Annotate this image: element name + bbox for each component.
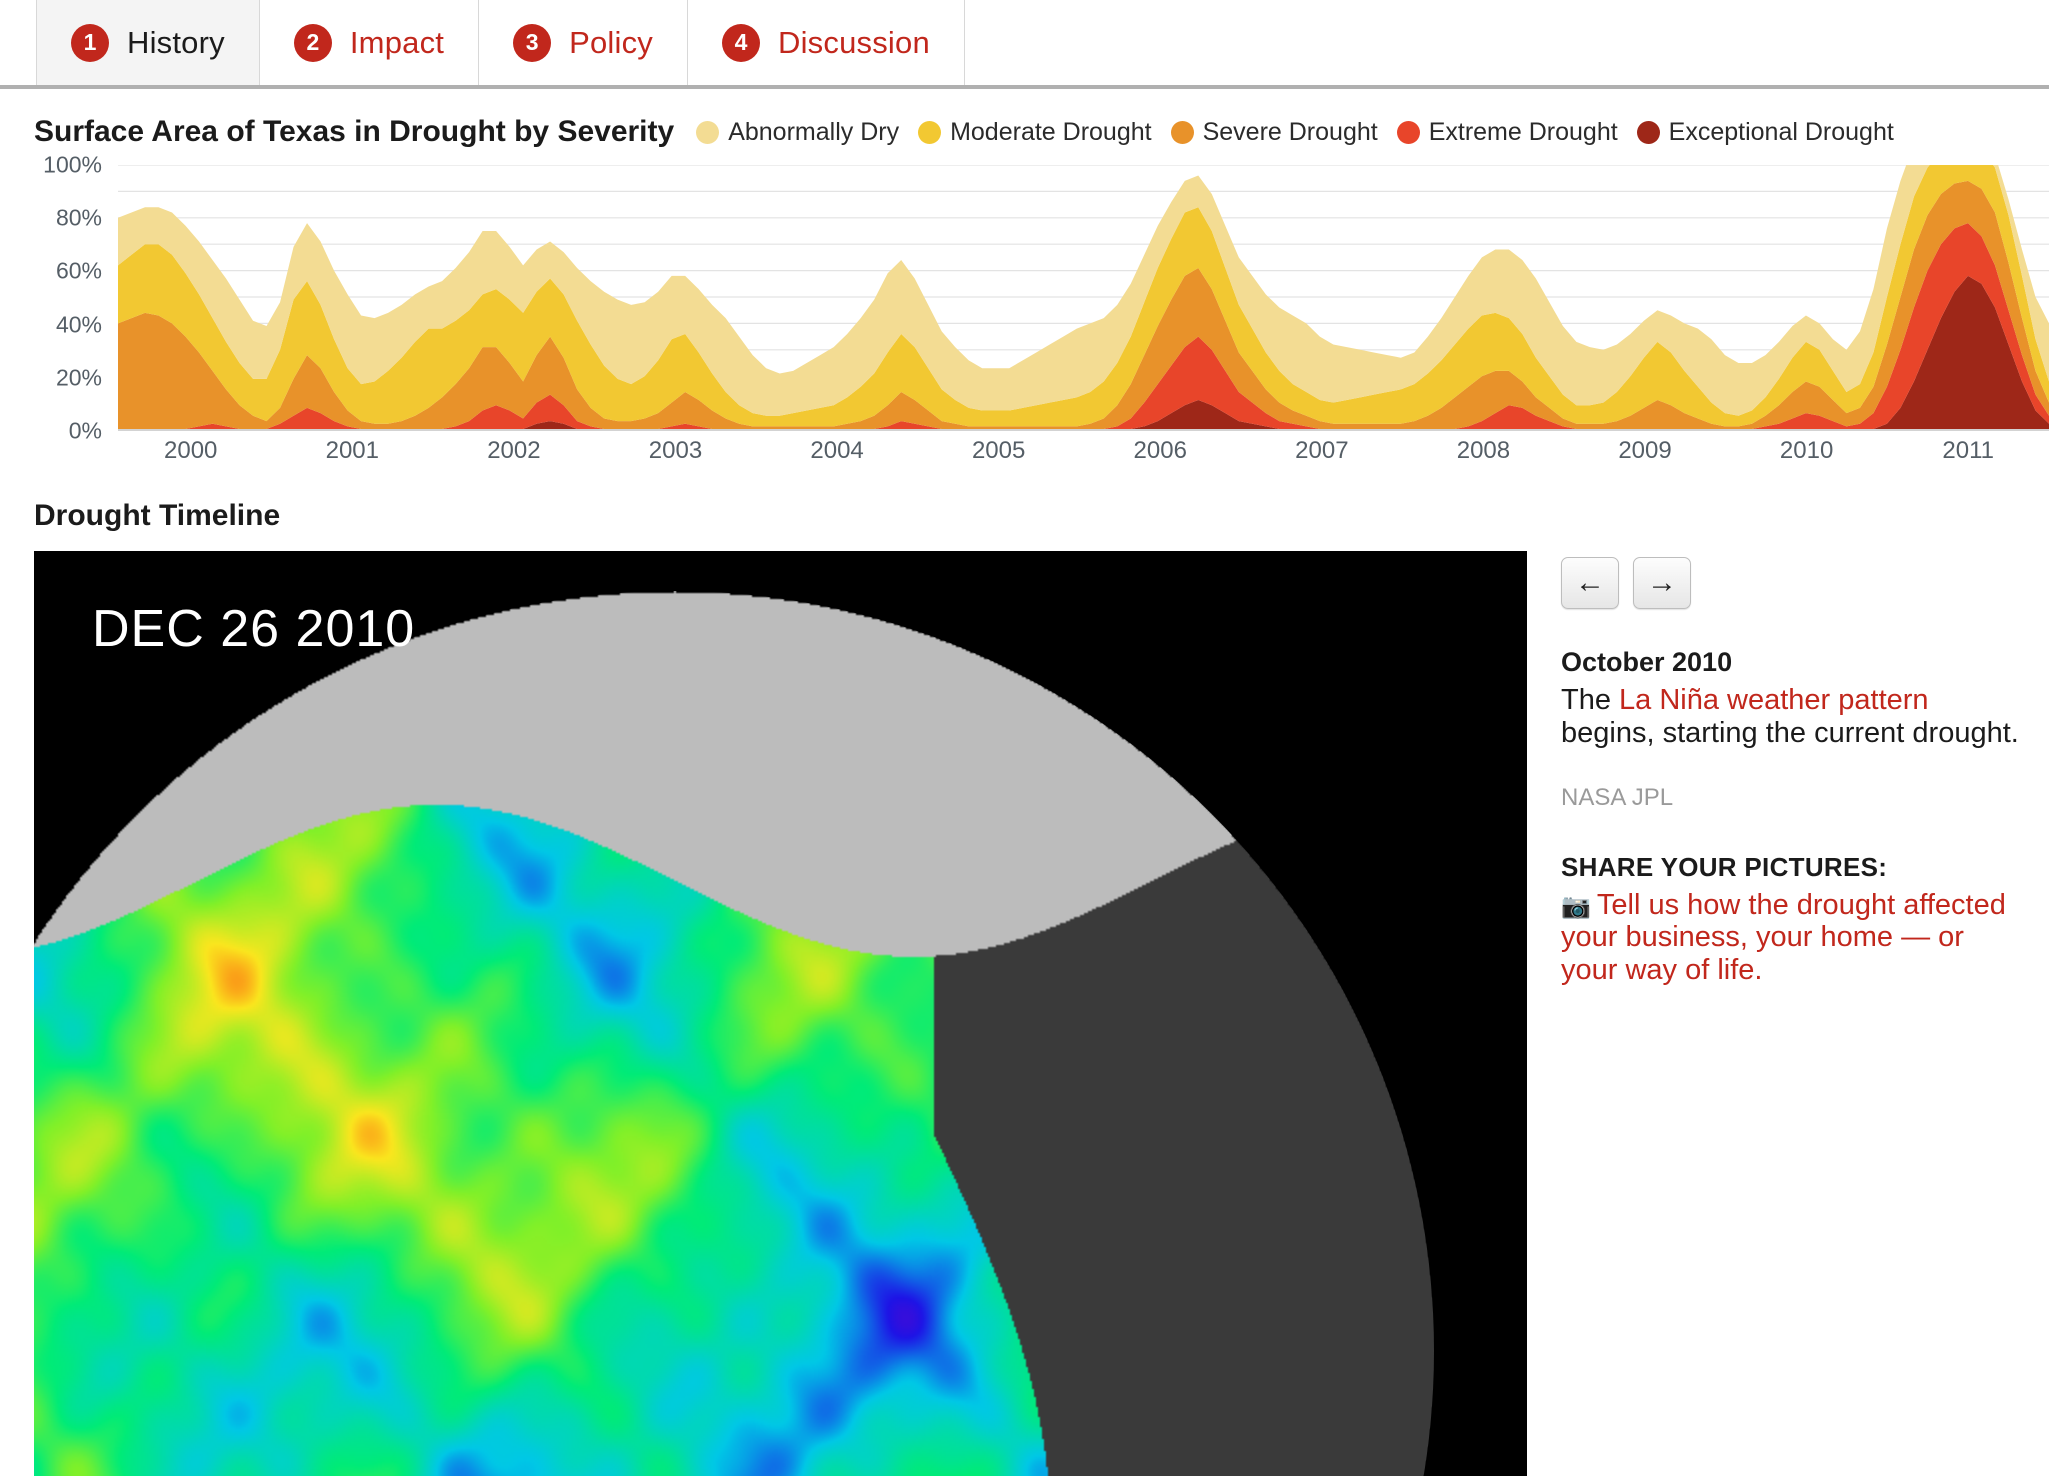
entry-text: The La Niña weather pattern begins, star… — [1561, 684, 2021, 750]
share-prompt-text: Tell us how the drought affected your bu… — [1561, 889, 2006, 987]
drought-chart-section: Surface Area of Texas in Drought by Seve… — [0, 89, 2049, 485]
y-axis: 0%20%40%60%80%100% — [0, 165, 112, 431]
tab-history[interactable]: 1History — [36, 0, 260, 85]
tab-impact[interactable]: 2Impact — [260, 0, 479, 85]
legend-label: Abnormally Dry — [728, 118, 899, 147]
y-axis-tick: 40% — [56, 311, 102, 338]
tab-label: Policy — [569, 25, 653, 61]
legend-item[interactable]: Extreme Drought — [1397, 118, 1627, 147]
legend-label: Extreme Drought — [1429, 118, 1618, 147]
x-axis-tick: 2000 — [164, 437, 217, 465]
x-axis-tick: 2011 — [1942, 437, 1994, 465]
legend-color-dot — [918, 121, 941, 144]
image-date-overlay: DEC 26 2010 — [92, 599, 415, 659]
x-axis-tick: 2007 — [1295, 437, 1348, 465]
x-axis-tick: 2002 — [487, 437, 540, 465]
legend-color-dot — [1171, 121, 1194, 144]
y-axis-tick: 60% — [56, 258, 102, 285]
next-button[interactable]: → — [1633, 557, 1691, 609]
share-prompt[interactable]: 📷Tell us how the drought affected your b… — [1561, 889, 2021, 987]
tab-number-badge: 3 — [513, 24, 551, 62]
tab-policy[interactable]: 3Policy — [479, 0, 688, 85]
timeline-nav: ← → — [1561, 557, 2021, 609]
timeline-body: DEC 26 2010 ← → October 2010 The La Niña… — [0, 551, 2049, 1476]
legend-color-dot — [1637, 121, 1660, 144]
x-axis-tick: 2010 — [1780, 437, 1833, 465]
legend-color-dot — [1397, 121, 1420, 144]
x-axis-tick: 2009 — [1618, 437, 1671, 465]
legend-item[interactable]: Exceptional Drought — [1637, 118, 1903, 147]
legend-item[interactable]: Severe Drought — [1171, 118, 1387, 147]
camera-icon: 📷 — [1561, 893, 1591, 920]
entry-text-highlight[interactable]: La Niña weather pattern — [1619, 684, 1929, 716]
entry-date: October 2010 — [1561, 647, 2021, 678]
tab-number-badge: 1 — [71, 24, 109, 62]
tab-number-badge: 2 — [294, 24, 332, 62]
sea-surface-temperature-image[interactable]: DEC 26 2010 — [34, 551, 1527, 1476]
tab-label: Discussion — [778, 25, 930, 61]
x-axis-tick: 2008 — [1457, 437, 1510, 465]
prev-button[interactable]: ← — [1561, 557, 1619, 609]
timeline-heading: Drought Timeline — [0, 499, 2049, 533]
entry-source: NASA JPL — [1561, 784, 2021, 812]
x-axis-tick: 2006 — [1134, 437, 1187, 465]
y-axis-tick: 0% — [69, 418, 102, 445]
legend-item[interactable]: Moderate Drought — [918, 118, 1161, 147]
tab-discussion[interactable]: 4Discussion — [688, 0, 965, 85]
y-axis-tick: 20% — [56, 364, 102, 391]
legend-label: Exceptional Drought — [1669, 118, 1894, 147]
y-axis-tick: 80% — [56, 205, 102, 232]
chart-plot-area: 0%20%40%60%80%100% 200020012002200320042… — [0, 165, 2049, 485]
x-axis-tick: 2003 — [649, 437, 702, 465]
x-axis-tick: 2001 — [326, 437, 379, 465]
stacked-area-plot — [118, 165, 2049, 431]
legend-color-dot — [696, 121, 719, 144]
y-axis-tick: 100% — [43, 152, 102, 179]
timeline-panel: ← → October 2010 The La Niña weather pat… — [1561, 551, 2021, 1476]
sst-canvas — [34, 591, 1434, 1476]
plot-svg — [118, 165, 2049, 429]
entry-text-before: The — [1561, 684, 1619, 716]
entry-text-after: begins, starting the current drought. — [1561, 717, 2019, 749]
legend-label: Severe Drought — [1203, 118, 1378, 147]
globe-sphere — [34, 591, 1434, 1476]
legend-item[interactable]: Abnormally Dry — [696, 118, 908, 147]
x-axis-tick: 2005 — [972, 437, 1025, 465]
legend-label: Moderate Drought — [950, 118, 1152, 147]
tab-label: History — [127, 25, 225, 61]
share-heading: SHARE YOUR PICTURES: — [1561, 852, 2021, 883]
tab-bar: 1History2Impact3Policy4Discussion — [0, 0, 2049, 89]
tab-number-badge: 4 — [722, 24, 760, 62]
chart-header: Surface Area of Texas in Drought by Seve… — [0, 111, 2049, 153]
x-axis: 2000200120022003200420052006200720082009… — [118, 437, 2049, 477]
x-axis-tick: 2004 — [810, 437, 863, 465]
chart-legend: Abnormally DryModerate DroughtSevere Dro… — [696, 118, 2043, 147]
tab-label: Impact — [350, 25, 444, 61]
chart-title: Surface Area of Texas in Drought by Seve… — [34, 115, 674, 149]
